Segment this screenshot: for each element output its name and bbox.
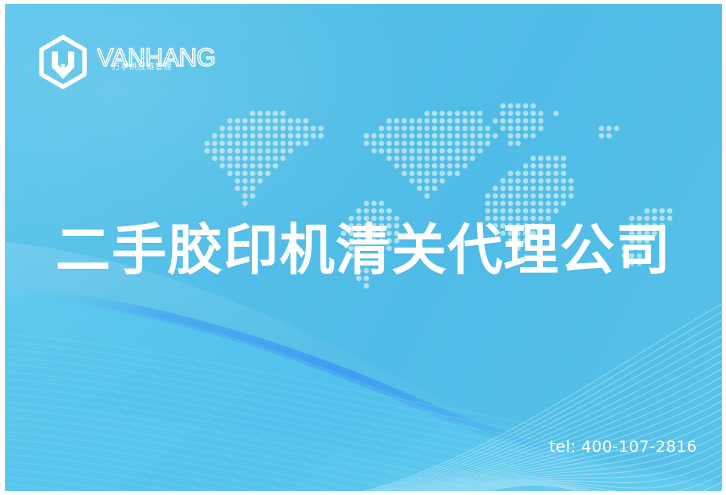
brand-subtitle: 万享供应链管理 (112, 62, 172, 72)
banner-canvas: VANHANG 万享供应链管理 二手胶印机清关代理公司 tel: 400-107… (5, 4, 722, 491)
contact-phone: tel: 400-107-2816 (549, 437, 697, 457)
brand-wordmark-block: VANHANG 万享供应链管理 (97, 38, 217, 86)
vanhang-wordmark-icon: VANHANG (97, 40, 217, 80)
brand-logo: VANHANG 万享供应链管理 (35, 33, 217, 91)
vanhang-hexagon-logo-icon (35, 34, 91, 90)
page-title: 二手胶印机清关代理公司 (5, 216, 722, 284)
promo-banner: VANHANG 万享供应链管理 二手胶印机清关代理公司 tel: 400-107… (0, 0, 726, 495)
